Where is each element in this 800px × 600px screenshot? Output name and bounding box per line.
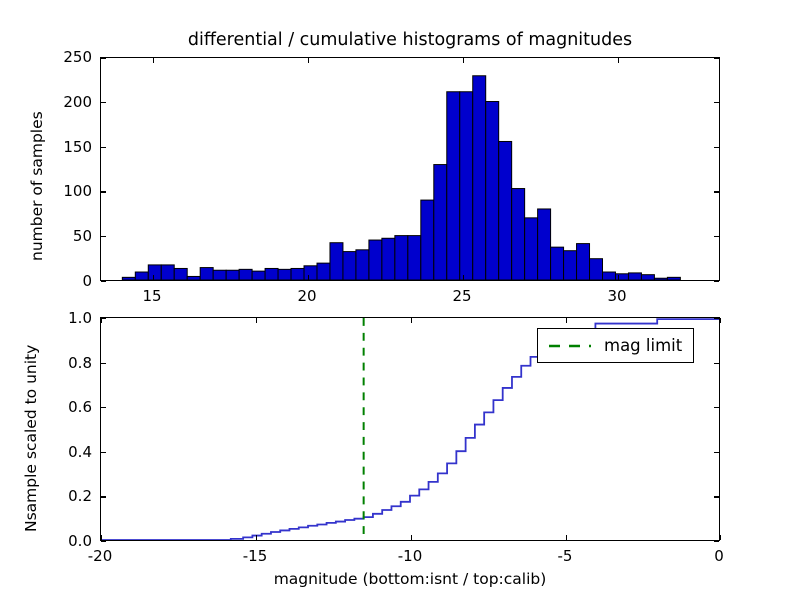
histogram-bar	[356, 250, 369, 280]
bottom-xtick-mark-m10	[411, 535, 412, 540]
bottom-xtick-mark-m20	[101, 535, 102, 540]
bottom-ytick-mark-06-right	[714, 407, 719, 408]
histogram-bar	[577, 244, 590, 280]
histogram-bar	[304, 266, 317, 280]
bottom-xtick-label-m20: -20	[88, 547, 113, 565]
bottom-ytick-mark-08-right	[714, 363, 719, 364]
bottom-xtick-mark-m15	[256, 535, 257, 540]
bottom-xtick-mark-m10-top	[411, 318, 412, 323]
histogram-bar	[512, 189, 525, 280]
top-ytick-mark-250-right	[714, 58, 719, 59]
histogram-bar	[590, 259, 603, 280]
top-ytick-label-100: 100	[42, 182, 92, 200]
histogram-bar	[603, 272, 616, 280]
histogram-bar	[369, 240, 382, 280]
legend: mag limit	[537, 328, 694, 363]
bottom-ytick-mark-00	[101, 541, 106, 542]
histogram-bar	[187, 276, 200, 280]
top-xtick-label-25: 25	[452, 287, 471, 305]
top-ytick-label-250: 250	[42, 48, 92, 66]
figure-canvas: differential / cumulative histograms of …	[0, 0, 800, 600]
histogram-bar	[148, 265, 161, 280]
histogram-bar	[174, 268, 187, 280]
top-histogram-plot	[101, 58, 719, 280]
histogram-bar	[395, 236, 408, 280]
top-xtick-mark-15	[153, 275, 154, 280]
histogram-bar	[499, 141, 512, 280]
bottom-ytick-label-08: 0.8	[32, 354, 92, 372]
xaxis-title: magnitude (bottom:isnt / top:calib)	[100, 570, 720, 588]
top-ytick-mark-200	[101, 102, 106, 103]
top-ytick-mark-200-right	[714, 102, 719, 103]
bottom-yaxis-title: Nsample scaled to unity	[22, 345, 40, 532]
top-xtick-mark-25	[463, 275, 464, 280]
top-yaxis-title: number of samples	[28, 111, 46, 261]
bottom-ytick-mark-10-right	[714, 318, 719, 319]
bottom-ytick-label-02: 0.2	[32, 487, 92, 505]
mag-limit-dashed-line-icon	[547, 339, 593, 353]
bottom-ytick-mark-02-right	[714, 496, 719, 497]
histogram-bar	[564, 251, 577, 280]
top-ytick-mark-0	[101, 281, 106, 282]
top-xtick-mark-30-top	[618, 58, 619, 63]
histogram-bar	[628, 273, 641, 280]
histogram-bar	[460, 92, 473, 280]
histogram-bar	[641, 275, 654, 280]
histogram-bar	[654, 278, 667, 280]
histogram-bar	[291, 268, 304, 280]
top-ytick-mark-50	[101, 236, 106, 237]
histogram-bar	[265, 268, 278, 280]
histogram-bar	[122, 277, 135, 280]
top-ytick-label-50: 50	[42, 227, 92, 245]
histogram-bar	[317, 263, 330, 280]
legend-label-mag-limit: mag limit	[604, 336, 682, 355]
histogram-bar	[486, 102, 499, 280]
histogram-bar	[434, 165, 447, 280]
histogram-bar	[408, 236, 421, 280]
bottom-ytick-mark-04	[101, 452, 106, 453]
bottom-ytick-mark-00-right	[714, 541, 719, 542]
histogram-bar	[252, 271, 265, 280]
histogram-bar	[343, 252, 356, 280]
bottom-xtick-mark-m20-top	[101, 318, 102, 323]
bottom-xtick-label-m10: -10	[398, 547, 423, 565]
histogram-bar	[278, 269, 291, 280]
bottom-xtick-mark-m15-top	[256, 318, 257, 323]
bottom-xtick-mark-0-top	[720, 318, 721, 323]
histogram-bar	[135, 272, 148, 280]
bottom-ytick-label-10: 1.0	[32, 309, 92, 327]
top-ytick-mark-100	[101, 191, 106, 192]
histogram-bar	[226, 270, 239, 280]
top-ytick-mark-100-right	[714, 191, 719, 192]
histogram-bar	[473, 76, 486, 280]
top-xtick-label-30: 30	[607, 287, 626, 305]
bottom-xtick-label-0: 0	[714, 547, 724, 565]
top-xtick-mark-20-top	[308, 58, 309, 63]
top-xtick-mark-30	[618, 275, 619, 280]
top-ytick-mark-50-right	[714, 236, 719, 237]
top-ytick-label-200: 200	[42, 93, 92, 111]
top-xtick-mark-15-top	[153, 58, 154, 63]
top-ytick-mark-250	[101, 58, 106, 59]
bottom-ytick-label-00: 0.0	[32, 532, 92, 550]
histogram-bar	[382, 238, 395, 280]
top-xtick-mark-20	[308, 275, 309, 280]
histogram-bar	[447, 92, 460, 280]
top-xtick-mark-25-top	[463, 58, 464, 63]
bottom-ytick-mark-08	[101, 363, 106, 364]
histogram-bar	[667, 277, 680, 280]
bottom-xtick-mark-m5	[566, 535, 567, 540]
bottom-xtick-mark-m5-top	[566, 318, 567, 323]
bottom-xtick-label-m15: -15	[243, 547, 268, 565]
bottom-ytick-mark-02	[101, 496, 106, 497]
top-xtick-label-15: 15	[142, 287, 161, 305]
top-xtick-label-20: 20	[297, 287, 316, 305]
top-histogram-axes	[100, 57, 720, 281]
histogram-bar	[525, 218, 538, 280]
top-ytick-label-0: 0	[42, 272, 92, 290]
histogram-bar	[213, 270, 226, 280]
histogram-bar	[538, 209, 551, 280]
top-ytick-mark-150	[101, 147, 106, 148]
bottom-ytick-mark-04-right	[714, 452, 719, 453]
top-ytick-mark-0-right	[714, 281, 719, 282]
bottom-xtick-label-m5: -5	[558, 547, 573, 565]
bottom-ytick-label-06: 0.6	[32, 398, 92, 416]
bottom-ytick-mark-06	[101, 407, 106, 408]
histogram-bar	[239, 269, 252, 280]
histogram-bar	[200, 268, 213, 280]
histogram-bar	[551, 247, 564, 280]
chart-title: differential / cumulative histograms of …	[100, 30, 720, 50]
bottom-xtick-mark-0	[720, 535, 721, 540]
histogram-bar	[161, 265, 174, 280]
histogram-bar	[330, 243, 343, 280]
top-ytick-mark-150-right	[714, 147, 719, 148]
top-ytick-label-150: 150	[42, 138, 92, 156]
bottom-ytick-label-04: 0.4	[32, 443, 92, 461]
histogram-bar	[421, 200, 434, 280]
